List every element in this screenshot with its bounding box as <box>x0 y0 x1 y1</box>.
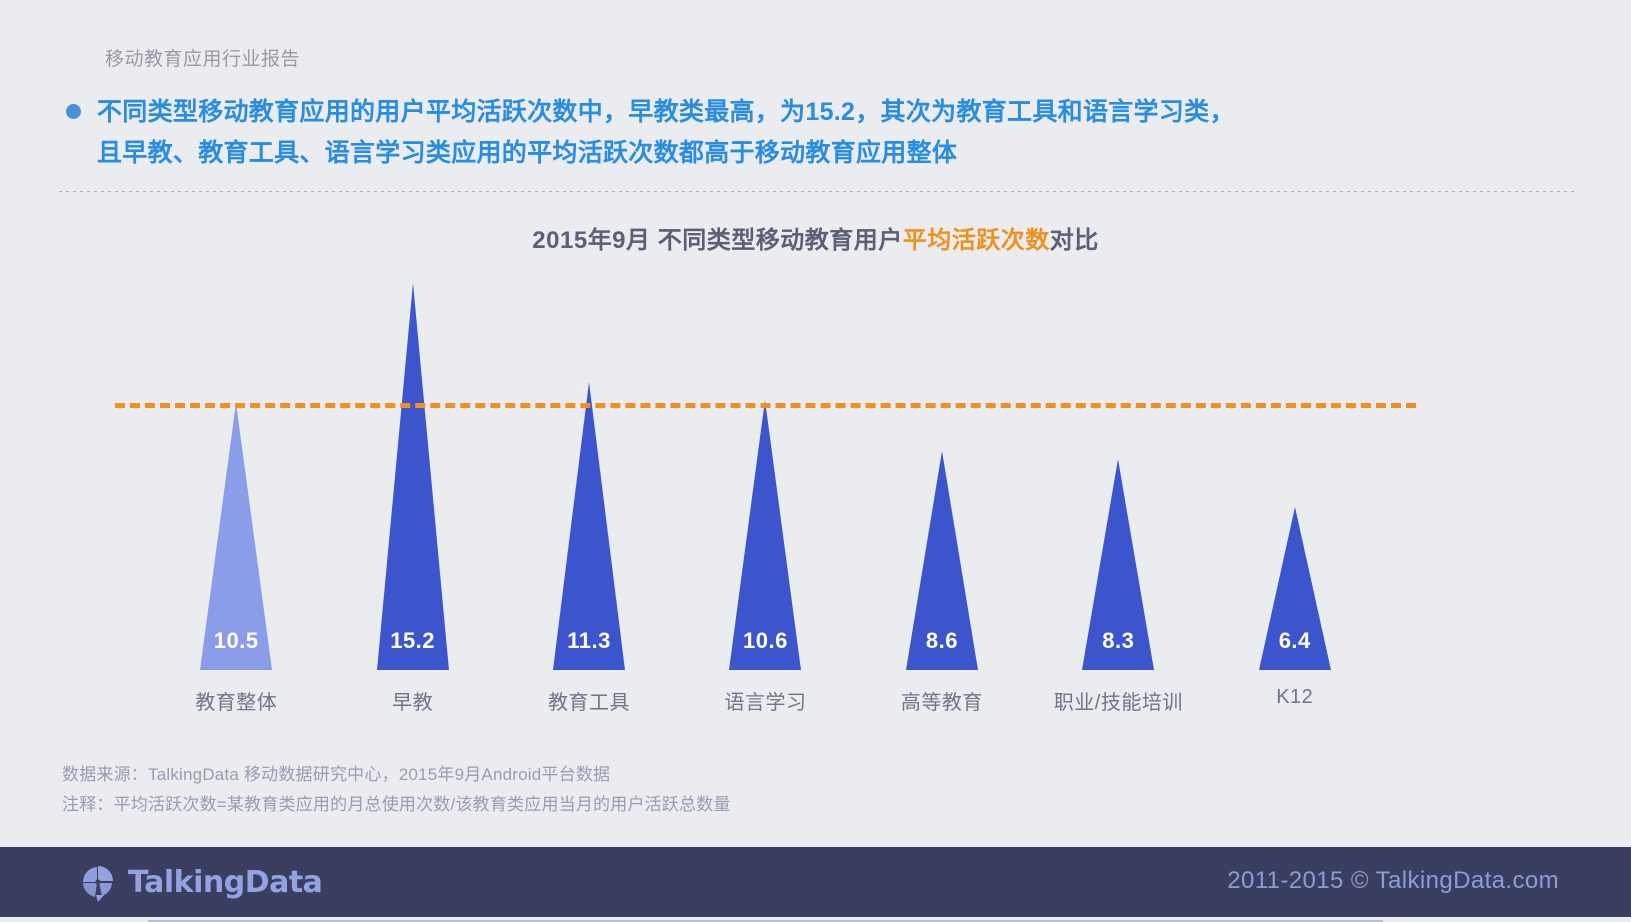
headline-block: 不同类型移动教育应用的用户平均活跃次数中，早教类最高，为15.2，其次为教育工具… <box>66 92 1566 174</box>
chart-plot-area: 10.515.211.310.68.68.36.4 <box>148 250 1383 670</box>
reference-line <box>115 403 1416 408</box>
bar-slot: 10.6 <box>677 250 853 670</box>
definition-note: 注释：平均活跃次数=某教育类应用的月总使用次数/该教育类应用当月的用户活跃总数量 <box>62 790 731 820</box>
dotted-divider <box>57 190 1577 193</box>
x-axis-label: 高等教育 <box>854 686 1030 715</box>
report-subtitle: 移动教育应用行业报告 <box>105 44 300 71</box>
bar-slot: 8.3 <box>1030 250 1206 670</box>
bar-value-label: 11.3 <box>567 628 611 654</box>
headline-line-2: 且早教、教育工具、语言学习类应用的平均活跃次数都高于移动教育应用整体 <box>97 133 1235 174</box>
x-axis-label: K12 <box>1207 686 1383 715</box>
bar-cone[interactable] <box>529 382 649 670</box>
bar-value-label: 10.6 <box>743 628 788 654</box>
bar-cone[interactable] <box>353 283 473 670</box>
bar-slot: 8.6 <box>854 250 1030 670</box>
pie-speech-bubble-icon <box>78 862 118 902</box>
bar-value-label: 8.3 <box>1102 628 1134 654</box>
logo-text: TalkingData <box>128 865 322 900</box>
x-axis-labels: 教育整体早教教育工具语言学习高等教育职业/技能培训K12 <box>148 686 1383 715</box>
bar-series: 10.515.211.310.68.68.36.4 <box>148 250 1383 670</box>
x-axis-label: 早教 <box>324 686 500 715</box>
copyright-text: 2011-2015 © TalkingData.com <box>1227 867 1559 895</box>
talkingdata-logo[interactable]: TalkingData <box>78 862 322 902</box>
bar-value-label: 6.4 <box>1279 628 1311 654</box>
bar-value-label: 15.2 <box>390 628 435 654</box>
bar-slot: 6.4 <box>1207 250 1383 670</box>
bar-value-label: 10.5 <box>214 628 259 654</box>
bar-value-label: 8.6 <box>926 628 958 654</box>
source-note: 数据来源：TalkingData 移动数据研究中心，2015年9月Android… <box>62 760 731 790</box>
bar-slot: 15.2 <box>324 250 500 670</box>
headline-text: 不同类型移动教育应用的用户平均活跃次数中，早教类最高，为15.2，其次为教育工具… <box>97 92 1235 174</box>
x-axis-label: 职业/技能培训 <box>1030 686 1206 715</box>
x-axis-label: 教育工具 <box>501 686 677 715</box>
bar-slot: 10.5 <box>148 250 324 670</box>
footnotes: 数据来源：TalkingData 移动数据研究中心，2015年9月Android… <box>62 760 731 820</box>
bullet-icon <box>66 104 81 119</box>
x-axis-label: 语言学习 <box>677 686 853 715</box>
headline-line-1: 不同类型移动教育应用的用户平均活跃次数中，早教类最高，为15.2，其次为教育工具… <box>97 98 1235 126</box>
page-footer: TalkingData 2011-2015 © TalkingData.com <box>0 847 1631 917</box>
x-axis-label: 教育整体 <box>148 686 324 715</box>
bar-slot: 11.3 <box>501 250 677 670</box>
